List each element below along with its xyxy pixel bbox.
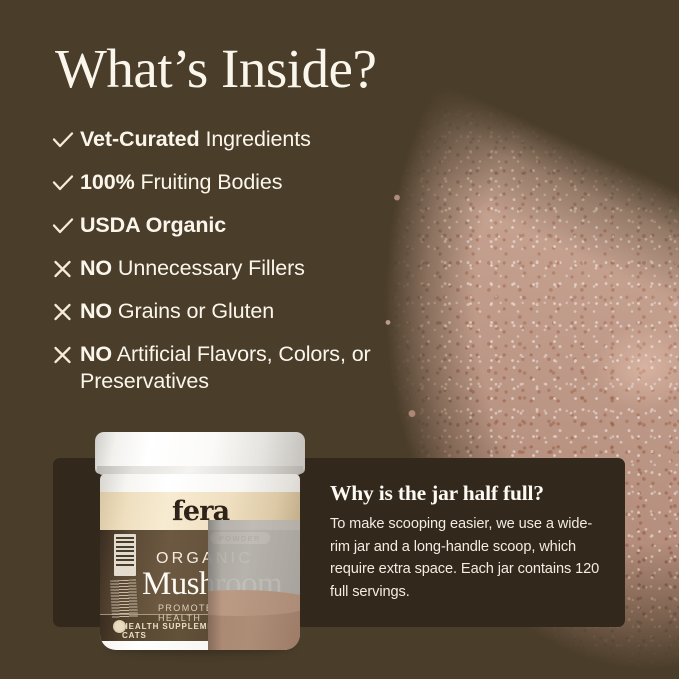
list-item-rest: Ingredients xyxy=(200,127,311,151)
list-item: NO Unnecessary Fillers xyxy=(50,255,470,283)
list-item-rest: Fruiting Bodies xyxy=(135,170,283,194)
info-card-body: To make scooping easier, we use a wide-r… xyxy=(330,513,602,603)
jar-cutaway-edge-shadow xyxy=(208,520,222,650)
info-card-heading: Why is the jar half full? xyxy=(330,481,544,506)
organic-seal-icon xyxy=(113,620,126,633)
feature-list: Vet-Curated Ingredients 100% Fruiting Bo… xyxy=(50,126,470,410)
list-item-bold: NO xyxy=(80,256,112,280)
check-icon xyxy=(50,170,80,197)
infographic-page: What’s Inside? Vet-Curated Ingredients 1… xyxy=(0,0,679,679)
list-item-label: Vet-Curated Ingredients xyxy=(80,126,311,153)
page-title: What’s Inside? xyxy=(55,40,376,98)
list-item-bold: Vet-Curated xyxy=(80,127,200,151)
list-item-label: NO Unnecessary Fillers xyxy=(80,255,305,282)
jar-cutaway-section xyxy=(208,520,300,650)
cross-icon xyxy=(50,299,80,326)
cross-icon xyxy=(50,342,80,369)
list-item-bold: USDA Organic xyxy=(80,213,226,237)
list-item-label: USDA Organic xyxy=(80,212,226,239)
supplement-facts-panel xyxy=(114,534,136,576)
jar-body: fera POWDER ORGANIC Mushroom PROMOTES CO… xyxy=(100,474,300,650)
list-item-label: NO Grains or Gluten xyxy=(80,298,274,325)
list-item: NO Grains or Gluten xyxy=(50,298,470,326)
list-item: Vet-Curated Ingredients xyxy=(50,126,470,154)
list-item: NO Artificial Flavors, Colors, or Preser… xyxy=(50,341,470,395)
list-item: 100% Fruiting Bodies xyxy=(50,169,470,197)
list-item-bold: NO xyxy=(80,299,112,323)
jar-side-copy xyxy=(110,579,138,618)
check-icon xyxy=(50,213,80,240)
list-item-rest: Artificial Flavors, Colors, or Preservat… xyxy=(80,342,371,393)
list-item-label: NO Artificial Flavors, Colors, or Preser… xyxy=(80,341,470,395)
list-item-bold: 100% xyxy=(80,170,135,194)
product-jar: fera POWDER ORGANIC Mushroom PROMOTES CO… xyxy=(92,428,308,656)
list-item-label: 100% Fruiting Bodies xyxy=(80,169,282,196)
check-icon xyxy=(50,127,80,154)
list-item-rest: Unnecessary Fillers xyxy=(112,256,305,280)
list-item-bold: NO xyxy=(80,342,112,366)
list-item: USDA Organic xyxy=(50,212,470,240)
cross-icon xyxy=(50,256,80,283)
list-item-rest: Grains or Gluten xyxy=(112,299,274,323)
